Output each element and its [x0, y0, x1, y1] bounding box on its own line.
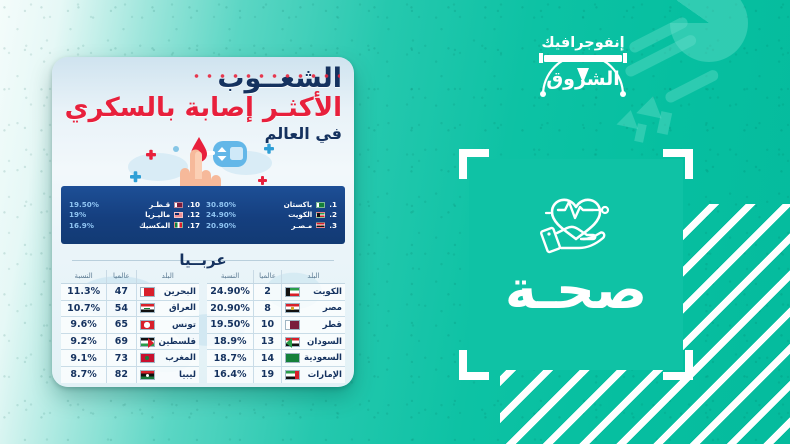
table-cell-country: ليبيا	[136, 366, 199, 382]
table-cell-country: البحرين	[136, 284, 199, 301]
country-flag-icon	[285, 287, 300, 297]
decorative-bar-shape-3	[664, 68, 721, 104]
country-flag-icon	[285, 370, 300, 380]
frame-corner-top-right	[663, 149, 693, 179]
table-cell-rank: 65	[107, 317, 136, 334]
global-country-name: المكسيك	[139, 222, 170, 229]
table-cell-rank: 19	[254, 366, 282, 382]
decorative-arrow-shape-2	[616, 108, 641, 129]
table-header-rank: عالميا	[254, 270, 282, 284]
sunrise-arc-icon: الشروق	[537, 61, 629, 97]
frame-corner-bottom-left	[459, 350, 489, 380]
table-header-rank: عالميا	[107, 270, 136, 284]
infographic-canvas: الشعــوب الأكثـر إصابة بالسكري في العالم	[0, 0, 790, 444]
table-row: الكويت224.90%	[207, 284, 345, 301]
table-cell-percent: 9.2%	[61, 333, 107, 350]
table-cell-country: الكويت	[281, 284, 345, 301]
table-cell-percent: 16.4%	[207, 366, 254, 382]
global-country-percent: 19.50%	[69, 201, 99, 208]
table-cell-rank: 82	[107, 366, 136, 382]
table-cell-country: مصر	[281, 300, 345, 317]
table-row: العراق5410.7%	[61, 300, 199, 317]
country-flag-icon	[316, 222, 325, 228]
country-name: البحرين	[164, 287, 196, 297]
table-cell-rank: 47	[107, 284, 136, 301]
table-cell-percent: 10.7%	[61, 300, 107, 317]
table-cell-country: فلسطين	[136, 333, 199, 350]
table-cell-country: قطر	[281, 317, 345, 334]
table-cell-country: تونس	[136, 317, 199, 334]
table-cell-rank: 10	[254, 317, 282, 334]
health-tile-label: صحـة	[469, 263, 683, 317]
country-flag-icon	[140, 320, 155, 330]
table-cell-percent: 18.9%	[207, 333, 254, 350]
country-flag-icon	[140, 337, 155, 347]
country-flag-icon	[316, 212, 325, 218]
arab-section-title: عربــيا	[52, 250, 354, 269]
decorative-arrow-stem-2	[634, 123, 647, 142]
brand-bottom-text: الشروق	[537, 70, 629, 89]
global-rank-number: 2.	[329, 211, 337, 218]
global-rank-row: 2.الكويت24.90%	[206, 211, 337, 218]
table-cell-rank: 69	[107, 333, 136, 350]
global-country-percent: 30.80%	[206, 201, 236, 208]
global-rank-row: 10.قـطـر19.50%	[69, 201, 200, 208]
table-row: السعودية1418.7%	[207, 350, 345, 367]
global-rank-row: 17.المكسيك16.9%	[69, 222, 200, 229]
global-country-percent: 16.9%	[69, 222, 94, 229]
table-header-pct: النسبة	[207, 270, 254, 284]
country-name: فلسطين	[159, 337, 197, 347]
table-cell-country: السودان	[281, 333, 345, 350]
table-cell-percent: 24.90%	[207, 284, 254, 301]
global-rank-row: 12.ماليـزيا19%	[69, 211, 200, 218]
global-country-name: قـطـر	[149, 201, 170, 208]
country-flag-icon	[285, 353, 300, 363]
table-cell-percent: 20.90%	[207, 300, 254, 317]
country-name: قطر	[323, 320, 342, 330]
table-cell-rank: 8	[254, 300, 282, 317]
decorative-dot-line	[190, 72, 340, 80]
table-cell-rank: 13	[254, 333, 282, 350]
country-name: مصر	[323, 303, 342, 313]
country-flag-icon	[174, 212, 183, 218]
infographic-card: الشعــوب الأكثـر إصابة بالسكري في العالم	[52, 57, 354, 387]
global-left-column: 10.قـطـر19.50%12.ماليـزيا19%17.المكسيك16…	[69, 201, 200, 229]
country-flag-icon	[140, 370, 155, 380]
country-name: السعودية	[304, 353, 342, 363]
country-name: الإمارات	[308, 370, 342, 380]
global-country-name: مـصـر	[291, 222, 312, 229]
table-cell-rank: 2	[254, 284, 282, 301]
global-rank-number: 12.	[187, 211, 200, 218]
country-flag-icon	[285, 337, 300, 347]
arab-countries-tables: البلدعالمياالنسبةالبحرين4711.3%العراق541…	[61, 270, 345, 383]
country-name: ليبيا	[179, 370, 196, 380]
arab-table-right: البلدعالمياالنسبةالكويت224.90%مصر820.90%…	[207, 270, 345, 383]
frame-corner-top-left	[459, 149, 489, 179]
table-row: تونس659.6%	[61, 317, 199, 334]
table-cell-country: العراق	[136, 300, 199, 317]
country-flag-icon	[316, 202, 325, 208]
global-country-name: ماليـزيا	[145, 211, 170, 218]
country-flag-icon	[285, 303, 300, 313]
global-rank-number: 3.	[329, 222, 337, 229]
global-rank-row: 1.باكستان30.80%	[206, 201, 337, 208]
table-cell-percent: 9.6%	[61, 317, 107, 334]
global-country-percent: 20.90%	[206, 222, 236, 229]
brand-top-text: إنفوجرافيك	[517, 36, 649, 51]
global-right-column: 1.باكستان30.80%2.الكويت24.90%3.مـصـر20.9…	[206, 201, 337, 229]
global-country-name: الكويت	[288, 211, 312, 218]
global-country-percent: 24.90%	[206, 211, 236, 218]
country-name: السودان	[307, 337, 342, 347]
table-cell-percent: 8.7%	[61, 366, 107, 382]
decorative-pie-chart-shape	[670, 0, 748, 62]
table-cell-percent: 18.7%	[207, 350, 254, 367]
table-cell-percent: 11.3%	[61, 284, 107, 301]
country-flag-icon	[140, 353, 155, 363]
table-row: السودان1318.9%	[207, 333, 345, 350]
table-row: قطر1019.50%	[207, 317, 345, 334]
table-cell-rank: 14	[254, 350, 282, 367]
global-country-name: باكستان	[284, 201, 313, 208]
frame-corner-bottom-right	[663, 350, 693, 380]
country-flag-icon	[140, 287, 155, 297]
country-flag-icon	[140, 303, 155, 313]
global-rank-number: 1.	[329, 201, 337, 208]
country-flag-icon	[174, 222, 183, 228]
table-header-pct: النسبة	[61, 270, 107, 284]
decorative-arrow-shape-1	[636, 94, 666, 119]
table-row: المغرب739.1%	[61, 350, 199, 367]
table-cell-rank: 73	[107, 350, 136, 367]
table-row: البحرين4711.3%	[61, 284, 199, 301]
table-row: الإمارات1916.4%	[207, 366, 345, 382]
table-cell-country: السعودية	[281, 350, 345, 367]
table-row: ليبيا828.7%	[61, 366, 199, 382]
arab-section-title-text: عربــيا	[173, 251, 232, 269]
global-country-percent: 19%	[69, 211, 86, 218]
country-flag-icon	[174, 202, 183, 208]
global-rankings-panel: 10.قـطـر19.50%12.ماليـزيا19%17.المكسيك16…	[61, 186, 345, 244]
country-flag-icon	[285, 320, 300, 330]
table-header-country: البلد	[281, 270, 345, 284]
brand-logo: إنفوجرافيك الشروق	[517, 36, 649, 97]
table-cell-country: المغرب	[136, 350, 199, 367]
table-cell-percent: 19.50%	[207, 317, 254, 334]
card-header: الشعــوب الأكثـر إصابة بالسكري في العالم	[52, 57, 354, 143]
country-name: الكويت	[313, 287, 342, 297]
table-cell-country: الإمارات	[281, 366, 345, 382]
table-row: فلسطين699.2%	[61, 333, 199, 350]
decorative-arrow-stem-1	[657, 111, 672, 135]
heart-pulse-in-hand-icon	[536, 177, 616, 259]
table-header-country: البلد	[136, 270, 199, 284]
health-category-tile: صحـة	[469, 159, 683, 370]
country-name: تونس	[172, 320, 196, 330]
arab-table-left: البلدعالمياالنسبةالبحرين4711.3%العراق541…	[61, 270, 199, 383]
country-name: العراق	[169, 303, 196, 313]
global-rank-row: 3.مـصـر20.90%	[206, 222, 337, 229]
global-rank-number: 10.	[187, 201, 200, 208]
country-name: المغرب	[165, 353, 196, 363]
global-rank-number: 17.	[187, 222, 200, 229]
table-cell-rank: 54	[107, 300, 136, 317]
card-title-line2: الأكثـر إصابة بالسكري	[64, 94, 342, 123]
table-row: مصر820.90%	[207, 300, 345, 317]
table-cell-percent: 9.1%	[61, 350, 107, 367]
